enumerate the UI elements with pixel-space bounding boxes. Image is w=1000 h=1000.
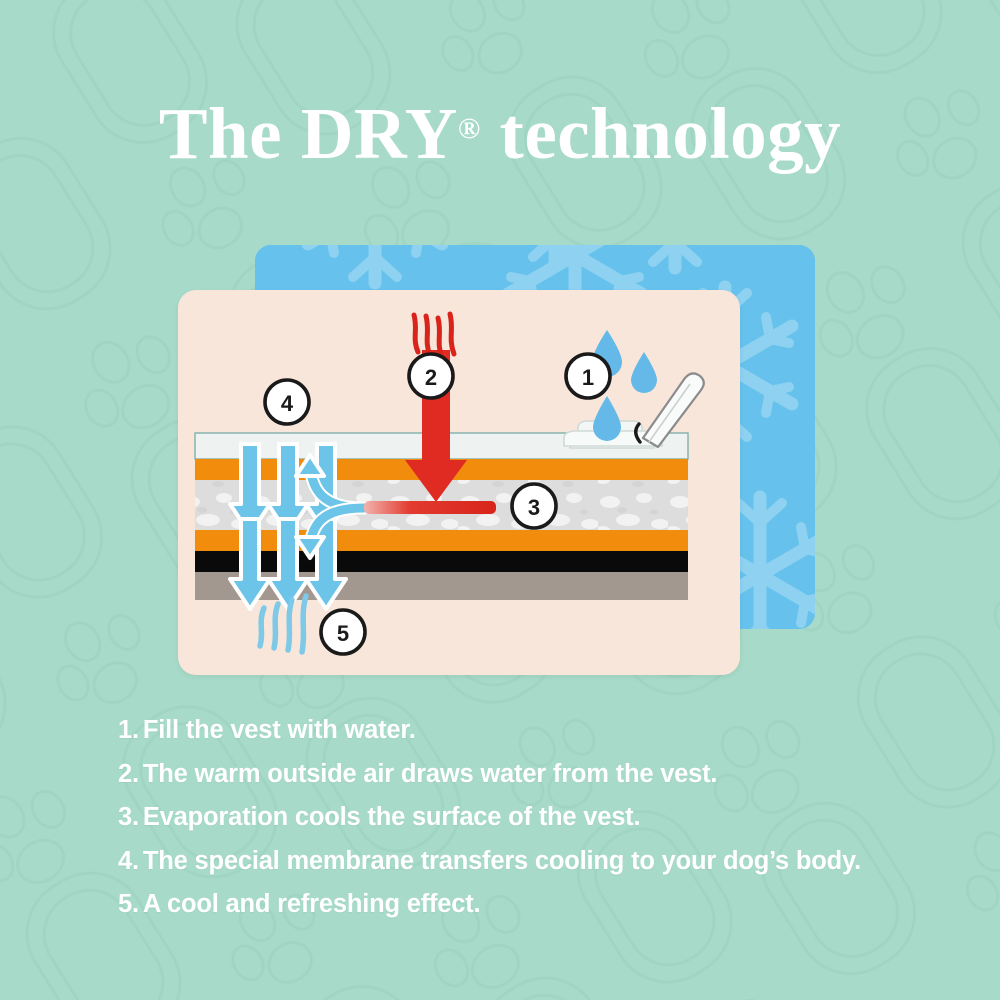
badge-4-label: 4 [281, 391, 294, 416]
badge-2: 2 [409, 354, 453, 398]
badge-2-label: 2 [425, 365, 437, 390]
red-heat-bar [364, 501, 496, 514]
list-item: 5. A cool and refreshing effect. [118, 892, 968, 918]
list-item: 1. Fill the vest with water. [118, 718, 968, 744]
page-title: The DRY® technology [0, 96, 1000, 173]
badge-5-label: 5 [337, 621, 349, 646]
title-suffix: technology [481, 93, 841, 174]
step-text: A cool and refreshing effect. [143, 892, 481, 918]
badge-1: 1 [566, 354, 610, 398]
badge-1-label: 1 [582, 365, 594, 390]
step-number: 1. [118, 718, 139, 744]
list-item: 2. The warm outside air draws water from… [118, 762, 968, 788]
badge-5: 5 [321, 610, 365, 654]
list-item: 3. Evaporation cools the surface of the … [118, 805, 968, 831]
step-number: 2. [118, 762, 139, 788]
step-text: The warm outside air draws water from th… [143, 762, 717, 788]
cooling-arrows-group [230, 444, 346, 609]
badge-4: 4 [265, 380, 309, 424]
title-main: The DRY [159, 93, 458, 174]
step-number: 4. [118, 849, 139, 875]
registered-mark: ® [458, 112, 481, 145]
badge-3-label: 3 [528, 495, 540, 520]
badge-3: 3 [512, 484, 556, 528]
step-number: 5. [118, 892, 139, 918]
step-text: The special membrane transfers cooling t… [143, 849, 861, 875]
step-number: 3. [118, 805, 139, 831]
steps-list: 1. Fill the vest with water. 2. The warm… [118, 718, 968, 936]
black-inner-layer [195, 551, 688, 572]
cooling-vest-cross-section: 4 2 1 3 5 [178, 290, 740, 675]
step-text: Fill the vest with water. [143, 718, 416, 744]
orange-membrane-bottom [195, 530, 688, 551]
list-item: 4. The special membrane transfers coolin… [118, 849, 968, 875]
dog-body-layer [195, 572, 688, 600]
step-text: Evaporation cools the surface of the ves… [143, 805, 640, 831]
